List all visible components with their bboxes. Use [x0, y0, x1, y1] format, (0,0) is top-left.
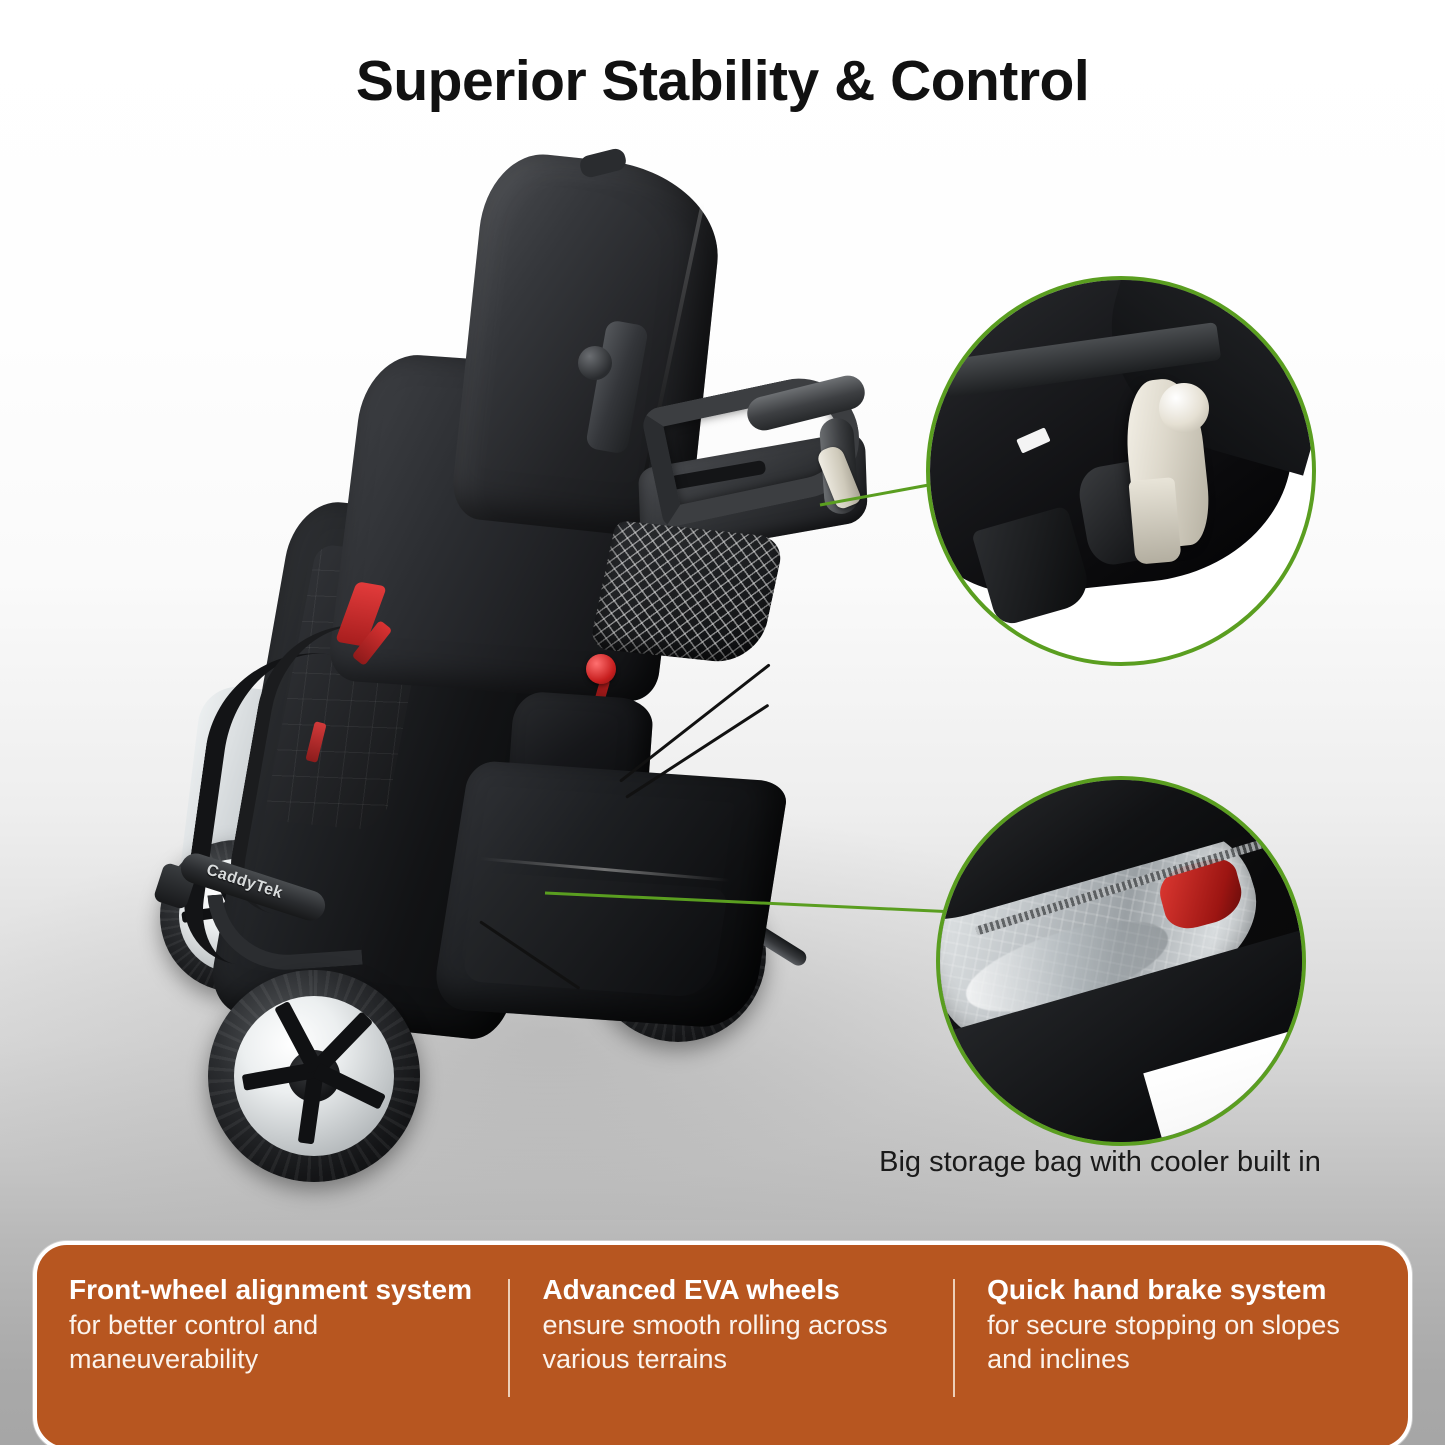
feature-body: ensure smooth rolling across various ter…	[542, 1309, 925, 1376]
lever-knob	[1159, 383, 1209, 433]
callout-caption-storage: Big storage bag with cooler built in	[800, 1146, 1400, 1179]
feature-column-eva-wheels: Advanced EVA wheels ensure smooth rollin…	[510, 1273, 955, 1376]
feature-column-front-wheel-alignment: Front-wheel alignment system for better …	[37, 1273, 510, 1376]
holder-knob	[578, 346, 612, 380]
callout-circle-hand-brake	[926, 276, 1316, 666]
product-image-golf-push-cart: CaddyTek	[150, 150, 930, 1210]
infographic-page: Superior Stability & Control	[0, 0, 1445, 1445]
feature-heading: Advanced EVA wheels	[542, 1273, 925, 1307]
callout-image-hand-brake	[930, 280, 1312, 662]
feature-heading: Quick hand brake system	[987, 1273, 1378, 1307]
page-title: Superior Stability & Control	[0, 48, 1445, 114]
mesh-accessory-pocket	[589, 520, 785, 666]
feature-body: for better control and maneuverability	[69, 1309, 480, 1376]
callout-image-storage-cooler	[940, 780, 1302, 1142]
lever-finger-grip	[1129, 477, 1182, 565]
feature-banner: Front-wheel alignment system for better …	[33, 1241, 1412, 1445]
red-release-button	[586, 654, 616, 684]
feature-body: for secure stopping on slopes and inclin…	[987, 1309, 1378, 1376]
feature-heading: Front-wheel alignment system	[69, 1273, 480, 1307]
wheel-front	[208, 970, 420, 1182]
feature-column-hand-brake: Quick hand brake system for secure stopp…	[955, 1273, 1408, 1376]
callout-circle-storage-cooler	[936, 776, 1306, 1146]
